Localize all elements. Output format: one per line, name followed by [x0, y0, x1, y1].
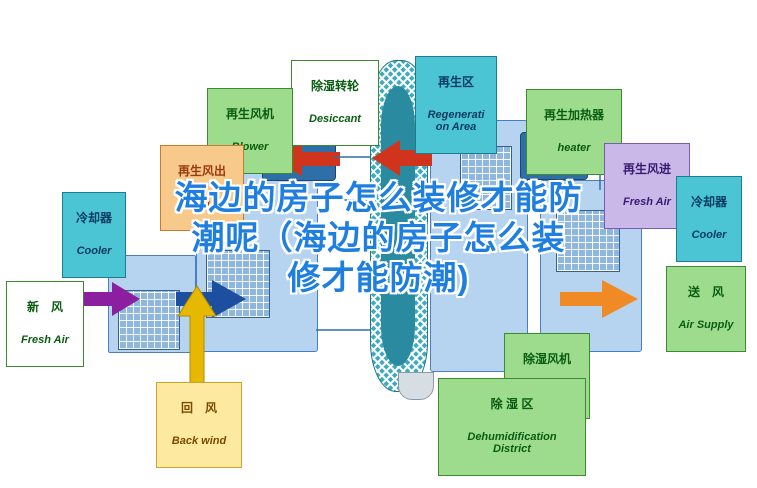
- label-regeneration-inlet-en: Fresh Air: [608, 196, 686, 209]
- label-dehumidification-district-en: Dehumidification District: [442, 431, 582, 456]
- label-regeneration-heater-cn: 再生加热器: [530, 109, 618, 123]
- label-cooler-left-en: Cooler: [66, 245, 122, 258]
- label-cooler-right: 冷却器 Cooler: [676, 176, 742, 262]
- label-back-wind: 回 风 Back wind: [156, 382, 242, 468]
- label-regeneration-exhaust-cn: 再生风出: [164, 165, 240, 179]
- label-regeneration-exhaust: 再生风出 Exhaust: [160, 145, 244, 231]
- label-cooler-right-cn: 冷却器: [680, 196, 738, 210]
- label-cooler-left: 冷却器 Cooler: [62, 192, 126, 278]
- label-dehumidify-blower-cn: 除湿风机: [508, 353, 586, 367]
- label-desiccant-rotor-cn: 除湿转轮: [295, 80, 375, 94]
- connector-lines: [316, 157, 600, 330]
- label-regeneration-area: 再生区 Regenerati on Area: [415, 56, 497, 154]
- label-air-supply-cn: 送 风: [670, 286, 742, 300]
- label-fresh-air-cn: 新 风: [10, 301, 80, 315]
- label-cooler-left-cn: 冷却器: [66, 212, 122, 226]
- label-regeneration-inlet-cn: 再生风进: [608, 163, 686, 177]
- label-regeneration-area-en: Regenerati on Area: [419, 109, 493, 134]
- label-air-supply-en: Air Supply: [670, 319, 742, 332]
- label-regeneration-blower-cn: 再生风机: [211, 108, 289, 122]
- label-fresh-air-en: Fresh Air: [10, 334, 80, 347]
- label-regeneration-area-cn: 再生区: [419, 76, 493, 90]
- label-dehumidification-district-cn: 除 湿 区: [442, 398, 582, 412]
- label-air-supply: 送 风 Air Supply: [666, 266, 746, 352]
- label-back-wind-cn: 回 风: [160, 402, 238, 416]
- supply-arrow: [560, 280, 638, 318]
- label-fresh-air: 新 风 Fresh Air: [6, 281, 84, 367]
- label-desiccant-rotor: 除湿转轮 Desiccant: [291, 60, 379, 146]
- label-cooler-right-en: Cooler: [680, 229, 738, 242]
- label-back-wind-en: Back wind: [160, 435, 238, 448]
- label-regeneration-exhaust-en: Exhaust: [164, 198, 240, 211]
- label-dehumidification-district: 除 湿 区 Dehumidification District: [438, 378, 586, 476]
- label-desiccant-rotor-en: Desiccant: [295, 113, 375, 126]
- diagram-canvas: 除湿转轮 Desiccant 再生区 Regenerati on Area 再生…: [0, 0, 757, 488]
